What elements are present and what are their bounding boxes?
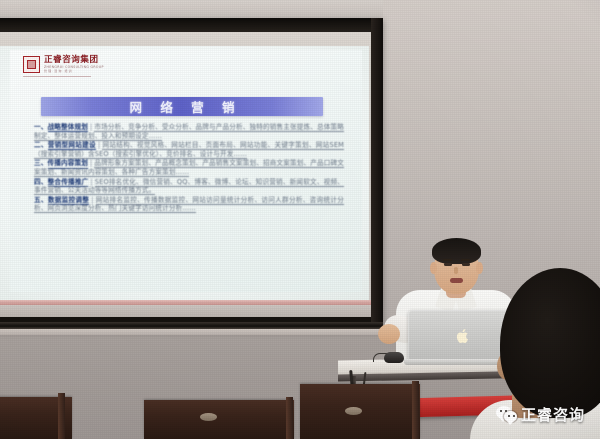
slide-logo: 正睿咨询集团 ZHENGRUI CONSULTING GROUP 管理·咨询·培… [23,56,104,73]
section-number: 二、 [34,141,48,149]
logo-text-block: 正睿咨询集团 ZHENGRUI CONSULTING GROUP 管理·咨询·培… [44,56,104,73]
whiteboard-rail-shadow [0,329,383,335]
presenter-ear-left [430,262,437,274]
wechat-icon [496,406,517,424]
screen-frame-top-bar [0,18,383,32]
watermark-text: 正睿咨询 [521,404,585,425]
photo-scene: 正睿咨询集团 ZHENGRUI CONSULTING GROUP 管理·咨询·培… [0,0,600,439]
section-number: 三、 [34,159,48,167]
presenter-hair [432,238,481,264]
section-number: 五、 [34,196,48,204]
slide-section: 一、战略整体规划|市场分析、竞争分析、受众分析、品牌与产品分析、独特的销售主张提… [34,123,344,140]
section-separator: | [88,178,94,186]
presenter-eyebrow-left [443,259,452,261]
company-logo-icon [23,56,40,73]
slide-section: 二、营销型网站建设|网站结构、视觉风格、网站栏目、页面布局、网站功能、关键字策划… [34,141,344,158]
chair-left-post [58,393,65,439]
slide-title: 网 络 营 销 [122,97,241,116]
chair-right-badge [345,407,362,415]
whiteboard-rail [0,322,383,329]
presenter-mouth [450,278,463,283]
slide-section: 四、整合传播推广|SEO排名优化、微信营销、QQ、博客、微博、论坛、知识营销、新… [34,178,344,195]
presenter-eyebrow-right [461,259,470,261]
computer-mouse [384,352,404,363]
section-separator: | [89,196,95,204]
slide-body: 一、战略整体规划|市场分析、竞争分析、受众分析、品牌与产品分析、独特的销售主张提… [34,123,344,214]
watermark: 正睿咨询 [496,404,585,425]
slide-section: 五、数据监控调整|网站排名监控、传播数据监控、网站访问量统计分析、访问人群分析、… [34,196,344,213]
presenter-ear-right [476,262,483,274]
logo-underline [23,76,91,77]
logo-brand-en: ZHENGRUI CONSULTING GROUP [44,66,104,69]
slide-title-bar: 网 络 营 销 [41,97,323,116]
section-number: 四、 [34,178,48,186]
presenter-hand-left [378,324,400,344]
section-number: 一、 [34,123,48,131]
presentation-slide: 正睿咨询集团 ZHENGRUI CONSULTING GROUP 管理·咨询·培… [10,50,362,292]
chair-center-badge [200,413,217,421]
logo-brand-cn: 正睿咨询集团 [44,56,104,65]
presenter-eye-left [444,263,452,266]
presenter-nose [454,267,458,274]
section-heading: 战略整体规划 [48,123,88,132]
screen-frame-right-bar [371,18,383,330]
apple-logo-icon [456,328,470,344]
chair-right-post [412,381,419,439]
chair-center-post [286,397,293,439]
logo-tagline: 管理·咨询·培训 [44,70,104,73]
presenter-eye-right [462,263,470,266]
screen-lower-gray-edge [0,305,371,317]
chair-center [144,400,294,439]
slide-section: 三、传播内容策划|品牌形象方案策划、产品概念策划、产品销售文案策划、招商文案策划… [34,159,344,176]
